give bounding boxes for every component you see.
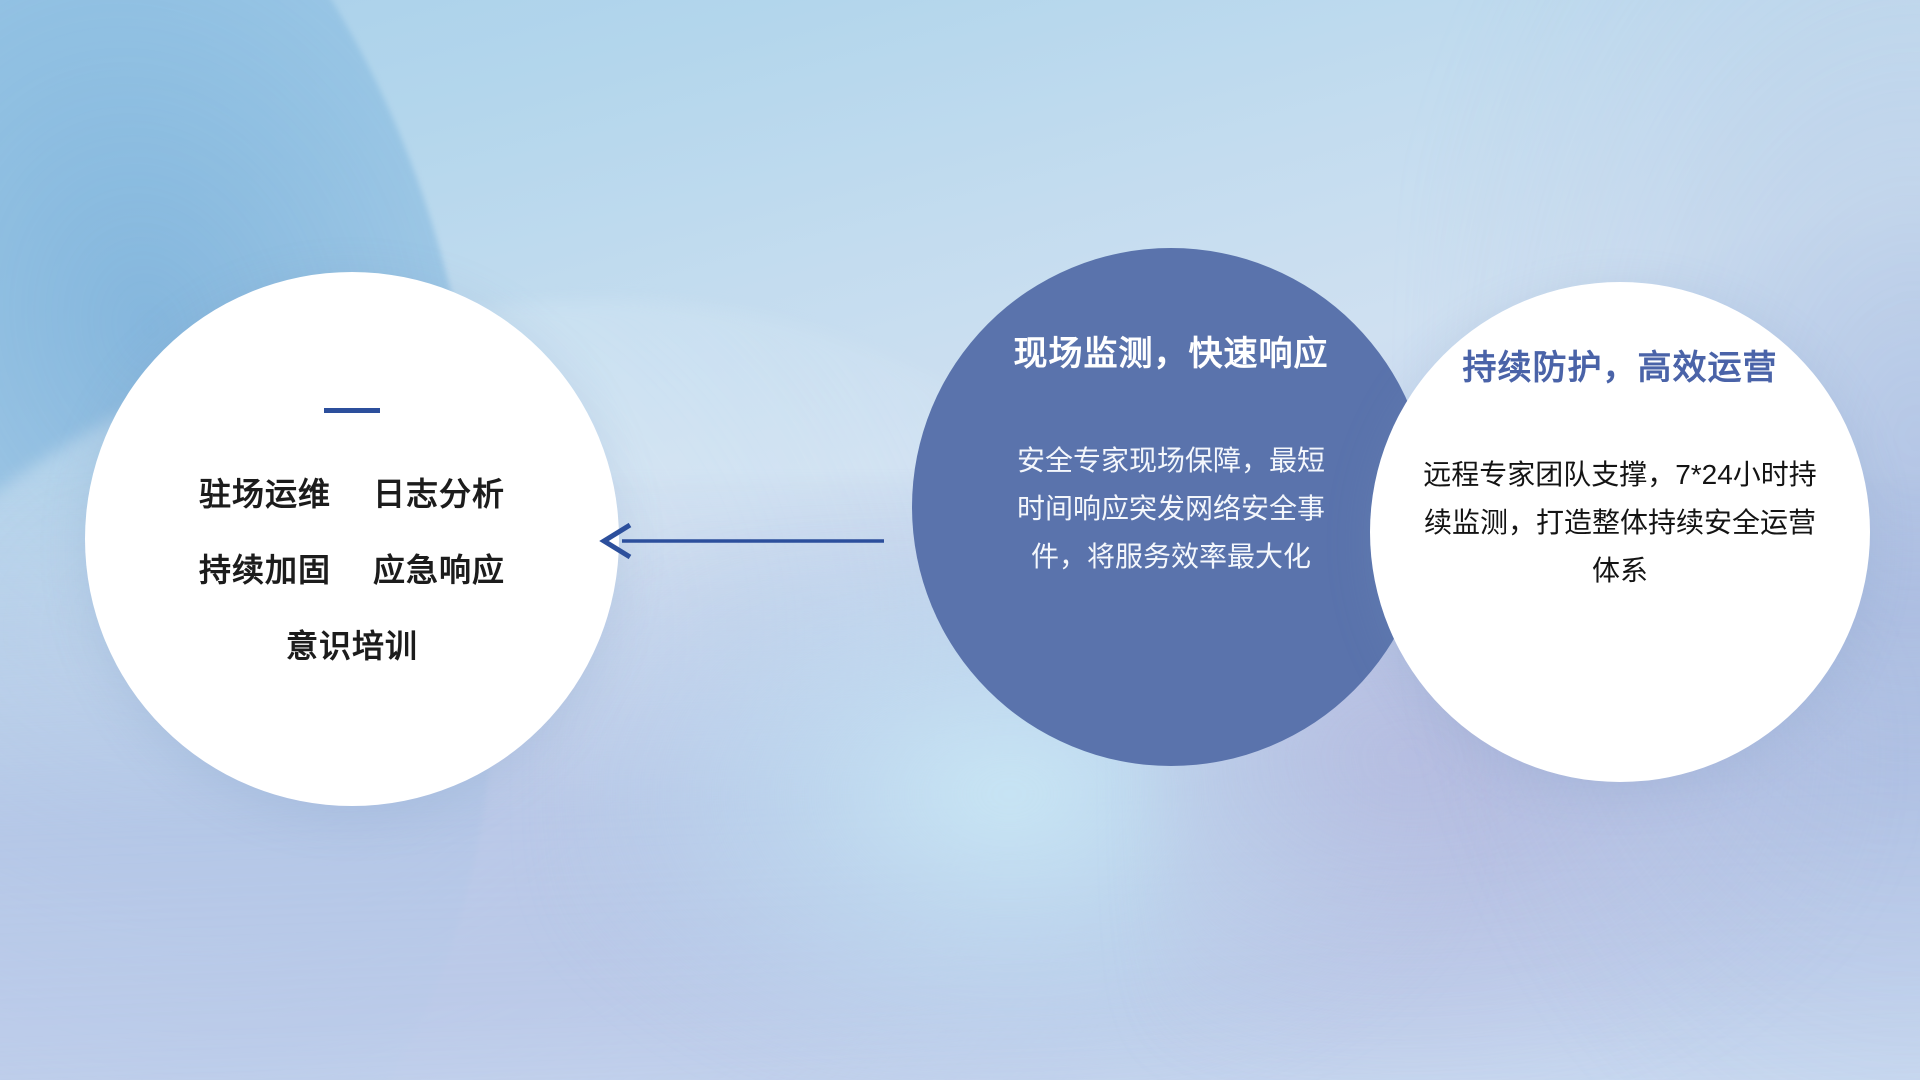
keyword-row: 驻场运维 日志分析 bbox=[117, 469, 587, 515]
onsite-monitoring-body: 安全专家现场保障，最短时间响应突发网络安全事件，将服务效率最大化 bbox=[1006, 437, 1336, 581]
keyword-item: 意识培训 bbox=[286, 621, 418, 667]
keyword-row: 持续加固 应急响应 bbox=[117, 545, 587, 591]
capability-keywords-circle[interactable]: 驻场运维 日志分析 持续加固 应急响应 意识培训 bbox=[85, 272, 619, 806]
continuous-protection-heading: 持续防护，高效运营 bbox=[1463, 340, 1778, 389]
keyword-item: 驻场运维 bbox=[199, 469, 331, 515]
capability-keywords-content: 驻场运维 日志分析 持续加固 应急响应 意识培训 bbox=[117, 408, 587, 667]
accent-dash-divider bbox=[324, 408, 380, 413]
continuous-protection-body: 远程专家团队支撑，7*24小时持续监测，打造整体持续安全运营体系 bbox=[1420, 451, 1820, 595]
onsite-monitoring-heading: 现场监测，快速响应 bbox=[1014, 326, 1329, 375]
flow-arrow-left bbox=[596, 518, 886, 564]
onsite-monitoring-circle[interactable]: 现场监测，快速响应 安全专家现场保障，最短时间响应突发网络安全事件，将服务效率最… bbox=[912, 248, 1430, 766]
keyword-item: 持续加固 bbox=[199, 545, 331, 591]
keyword-item: 日志分析 bbox=[373, 469, 505, 515]
slide-canvas: 驻场运维 日志分析 持续加固 应急响应 意识培训 现场监测，快速响应 安全专家现… bbox=[0, 0, 1920, 1080]
keyword-row: 意识培训 bbox=[117, 621, 587, 667]
continuous-protection-circle[interactable]: 持续防护，高效运营 远程专家团队支撑，7*24小时持续监测，打造整体持续安全运营… bbox=[1370, 282, 1870, 782]
keyword-item: 应急响应 bbox=[373, 545, 505, 591]
